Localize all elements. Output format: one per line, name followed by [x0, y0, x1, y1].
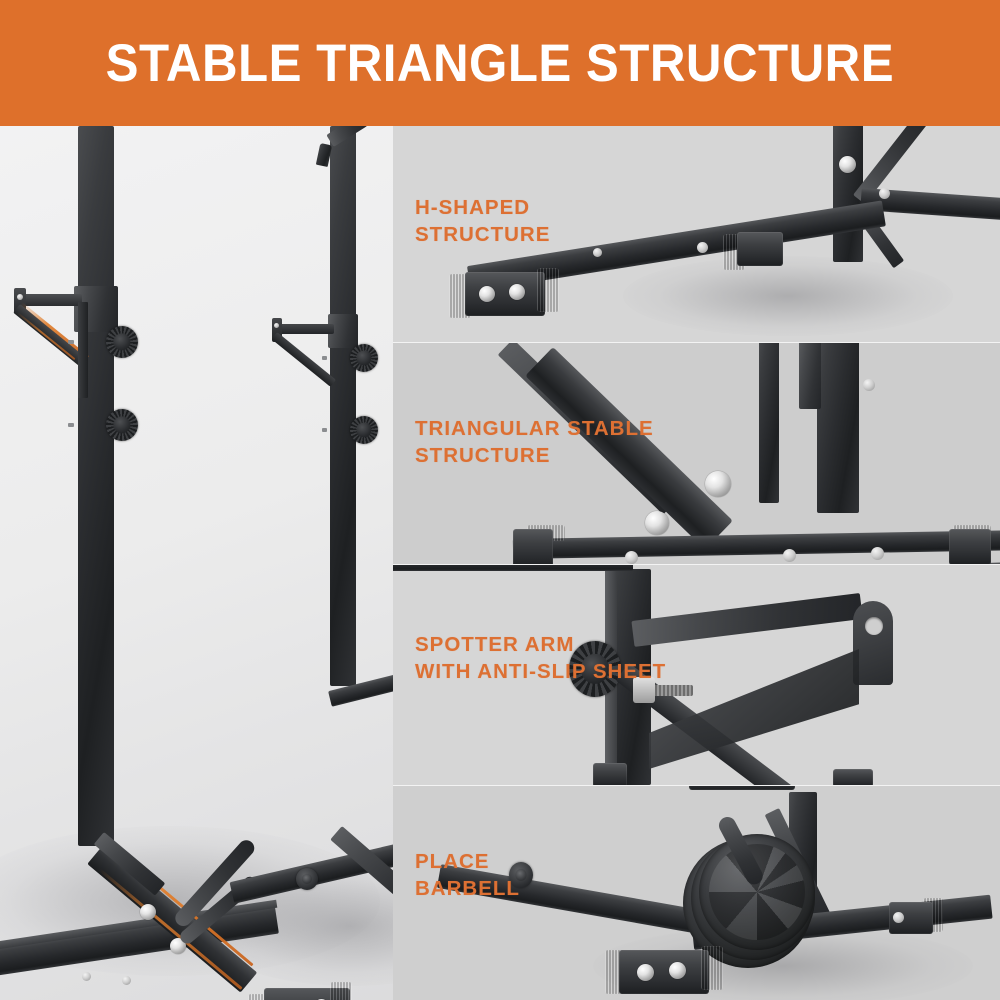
pin-right-lower [322, 428, 327, 432]
infographic-page: STABLE TRIANGLE STRUCTURE [0, 0, 1000, 1000]
panel0-far-bolt [697, 242, 708, 253]
spotter-arm-end-plate [853, 601, 893, 685]
foot-cap-right-edge [330, 982, 352, 1000]
base-brace-bolt-1 [140, 904, 156, 920]
panel-label-place-barbell: PLACE BARBELL [415, 848, 520, 902]
content-area: H-SHAPED STRUCTURE [0, 126, 1000, 1000]
panel1-upright-main [817, 343, 859, 513]
panel-label-triangular: TRIANGULAR STABLE STRUCTURE [415, 415, 654, 469]
adjustment-knob-left-lower [106, 409, 138, 441]
panel3-foot-cap-right [701, 946, 723, 990]
header-banner: STABLE TRIANGLE STRUCTURE [0, 0, 1000, 126]
panel1-upright-rear [759, 343, 779, 503]
spotter-arm-right-hole [274, 323, 279, 328]
pin-left-upper [68, 340, 74, 344]
base-bolt-b [122, 976, 131, 985]
spotter-arm-left-hole [17, 294, 23, 300]
feature-panels: H-SHAPED STRUCTURE [393, 126, 1000, 1000]
panel1-bolt-c [783, 549, 796, 562]
panel0-shadow [623, 256, 953, 336]
adjustment-knob-left-upper [106, 326, 138, 358]
panel1-bolt-e [863, 379, 875, 391]
weight-plate-spokes [709, 844, 805, 940]
panel3-foot-bolt-2 [669, 962, 686, 979]
upright-rear-right [330, 126, 356, 686]
panel-spotter-arm[interactable]: SPOTTER ARM WITH ANTI-SLIP SHEET [393, 565, 1000, 785]
panel0-foot-cap-right [537, 268, 559, 312]
panel1-cap-right-body [949, 529, 991, 564]
pin-right-upper [322, 356, 327, 360]
panel1-brace-bolt-upper [705, 471, 731, 497]
panel0-foot-cap-far [737, 232, 783, 266]
page-title: STABLE TRIANGLE STRUCTURE [106, 33, 894, 94]
panel-place-barbell[interactable]: PLACE BARBELL [393, 786, 1000, 1000]
panel-triangular[interactable]: TRIANGULAR STABLE STRUCTURE [393, 343, 1000, 564]
panel1-upright-sleeve [799, 343, 821, 409]
panel3-top-fragment [689, 786, 795, 790]
panel2-bottom-bracket [833, 769, 873, 785]
adjustment-knob-right-lower [350, 416, 378, 444]
panel0-foot-cap [465, 272, 545, 316]
panel1-brace-bolt-lower [645, 511, 669, 535]
panel-h-shaped[interactable]: H-SHAPED STRUCTURE [393, 126, 1000, 342]
panel1-mid-rail [513, 530, 1000, 559]
spotter-arm-end-hole [865, 617, 883, 635]
panel0-upright-bolt [839, 156, 856, 173]
panel1-cap-left-body [513, 529, 553, 564]
panel0-brace-bolt [879, 188, 890, 199]
panel0-foot-bolt-2 [509, 284, 525, 300]
upright-front-left [78, 126, 114, 846]
spotter-arm-left-edge-highlight-2 [17, 312, 76, 360]
panel0-mid-bolt [593, 248, 602, 257]
base-bolt-a [82, 972, 91, 981]
pin-left-lower [68, 423, 74, 427]
mid-rail-knob [296, 868, 318, 890]
panel0-foot-bolt-1 [479, 286, 495, 302]
panel1-bolt-d [871, 547, 884, 560]
adjustment-knob-right-upper [350, 344, 378, 372]
panel2-top-rail [393, 565, 633, 571]
panel2-upright-foot [593, 763, 627, 785]
panel3-foot-bolt-1 [637, 964, 654, 981]
panel3-far-bolt [893, 912, 904, 923]
main-product-image [0, 126, 393, 1000]
panel1-bolt-b [625, 551, 638, 564]
panel-label-h-shaped: H-SHAPED STRUCTURE [415, 194, 550, 248]
spotter-arm-left-vertical [78, 302, 88, 398]
panel3-foot-cap [619, 950, 709, 994]
spotter-bolt-shaft [649, 685, 693, 696]
panel-label-spotter-arm: SPOTTER ARM WITH ANTI-SLIP SHEET [415, 631, 666, 685]
